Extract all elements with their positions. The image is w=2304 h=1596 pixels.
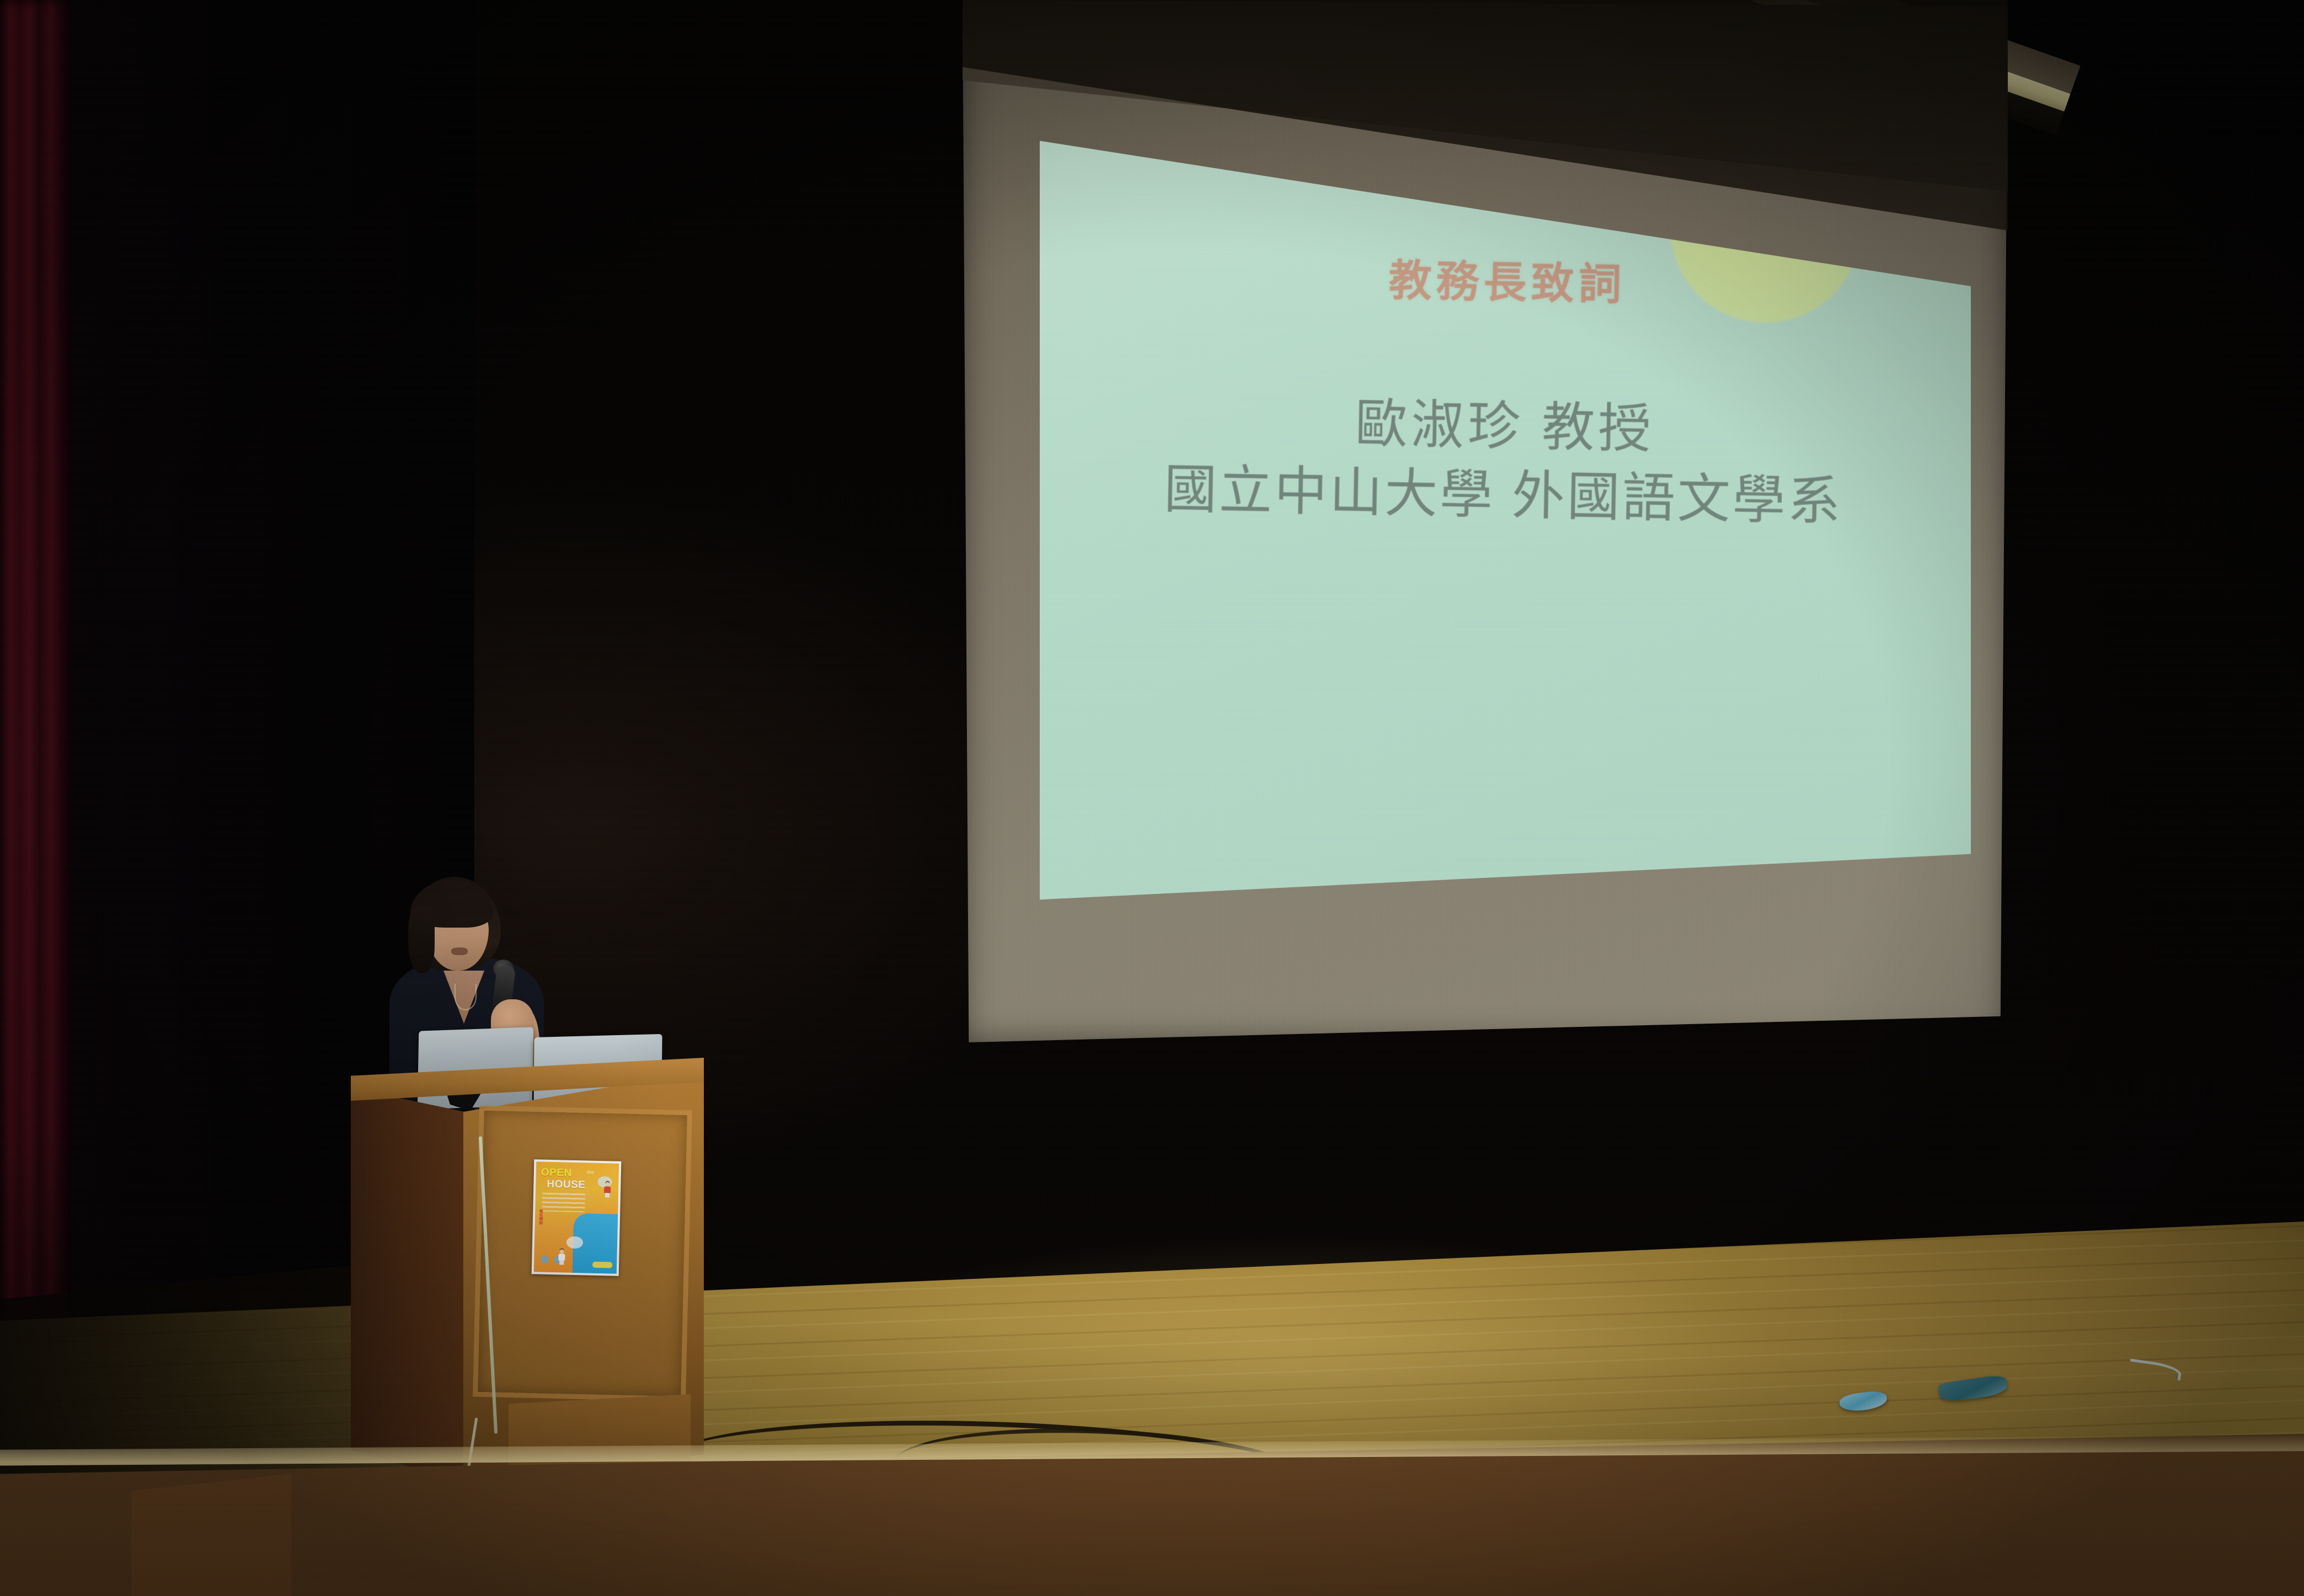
- speaker-necklace: [455, 984, 477, 1010]
- poster-figure-upper: [604, 1182, 611, 1197]
- poster-title-open: OPEN: [541, 1167, 572, 1180]
- open-house-poster: OPEN the HOUSE 報名開始: [532, 1159, 622, 1276]
- poster-blob-bottom: [592, 1262, 612, 1268]
- poster-artwork: OPEN the HOUSE 報名開始: [534, 1161, 619, 1273]
- speaker-hair-side: [408, 907, 435, 973]
- poster-figure-legs: [605, 1193, 610, 1197]
- projection-screen: 教務長致詞 歐淑珍 教授 國立中山大學 外國語文學系: [963, 0, 2008, 1042]
- poster-figure-head: [605, 1182, 610, 1186]
- poster-dot: [541, 1256, 548, 1263]
- poster-title-house: HOUSE: [547, 1179, 586, 1192]
- poster-figure-legs: [559, 1260, 564, 1265]
- speaker-mouth: [451, 947, 468, 955]
- poster-title-the: the: [587, 1169, 595, 1175]
- red-side-curtain: [0, 0, 71, 1492]
- stage-photo-scene: 教務長致詞 歐淑珍 教授 國立中山大學 外國語文學系: [0, 0, 2304, 1596]
- poster-subtitle-lines: [542, 1193, 585, 1213]
- slide-text-block: 教務長致詞 歐淑珍 教授 國立中山大學 外國語文學系: [1040, 240, 1971, 539]
- stage-apron-step-block: [131, 1474, 291, 1596]
- podium-side-panel: [351, 1080, 466, 1482]
- poster-figure-head: [560, 1249, 564, 1254]
- poster-vertical-text: 報名開始: [538, 1209, 544, 1224]
- poster-figure-lower: [558, 1249, 565, 1265]
- podium-lectern: OPEN the HOUSE 報名開始: [351, 1058, 704, 1499]
